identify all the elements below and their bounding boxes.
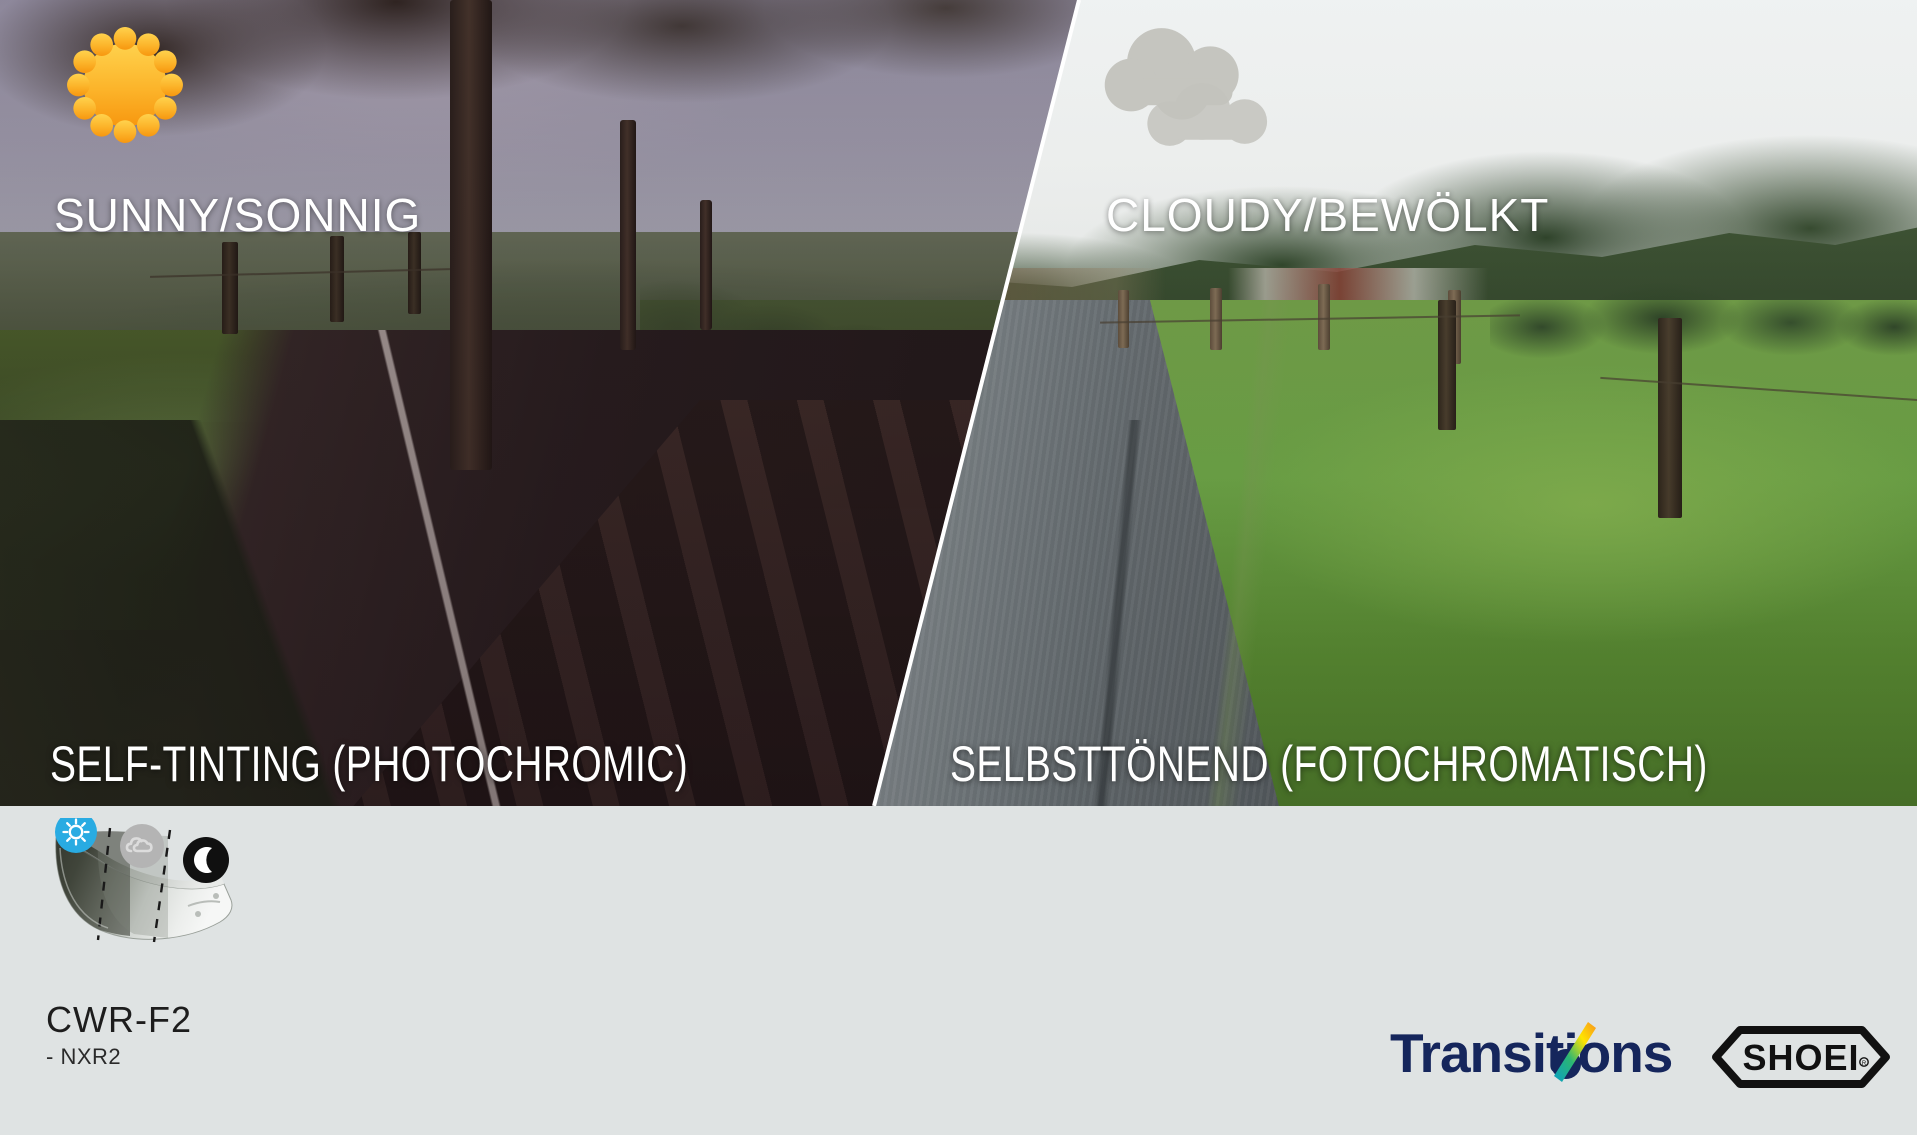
label-self-tinting-de: SELBSTTÖNEND (FOTOCHROMATISCH) <box>950 735 1708 793</box>
transitions-logo: Transitions <box>1390 1018 1652 1088</box>
shoei-wordmark: SHOEI <box>1742 1037 1859 1078</box>
svg-text:R: R <box>1862 1061 1867 1067</box>
visor-state-cloud-icon <box>120 824 164 868</box>
visor-graphic <box>38 818 268 948</box>
visor-state-moon-icon <box>183 837 229 883</box>
model-compat-sub: - NXR2 <box>46 1044 121 1070</box>
label-sunny: SUNNY/SONNIG <box>54 188 421 242</box>
transitions-accent-icon <box>1542 1020 1598 1086</box>
sun-icon <box>62 22 188 148</box>
shoei-logo: SHOEI R <box>1712 1026 1890 1088</box>
transitions-wordmark: Transitions <box>1390 1018 1672 1088</box>
label-cloudy: CLOUDY/BEWÖLKT <box>1106 188 1549 242</box>
label-self-tinting-en: SELF-TINTING (PHOTOCHROMIC) <box>50 735 688 793</box>
hero-comparison-image: SUNNY/SONNIG CLOUDY/BEWÖLKT SELF-TINTING… <box>0 0 1917 806</box>
poster-root: SUNNY/SONNIG CLOUDY/BEWÖLKT SELF-TINTING… <box>0 0 1917 1135</box>
cloud-icon <box>1090 18 1294 154</box>
model-name: CWR-F2 <box>46 999 192 1041</box>
